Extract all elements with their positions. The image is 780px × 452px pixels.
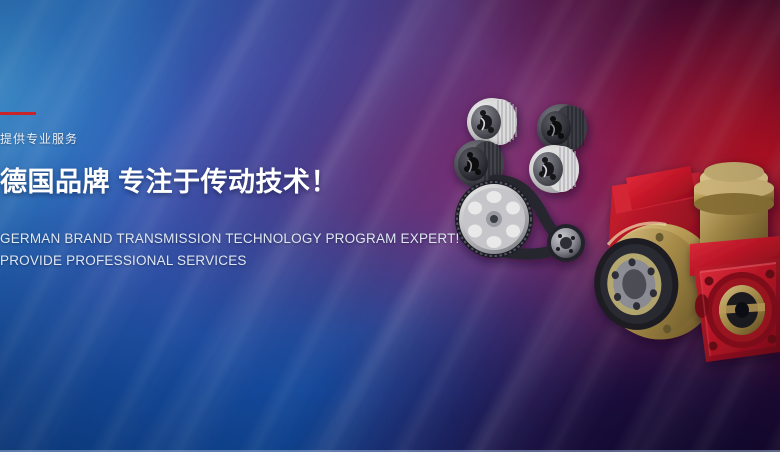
- promo-banner: 提供专业服务 德国品牌 专注于传动技术！ GERMAN BRAND TRANSM…: [0, 0, 780, 452]
- eyebrow-text: 提供专业服务: [0, 133, 420, 145]
- page-title: 德国品牌 专注于传动技术！: [0, 167, 420, 198]
- subheadline-line-2: PROVIDE PROFESSIONAL SERVICES: [0, 250, 420, 272]
- subheadline: GERMAN BRAND TRANSMISSION TECHNOLOGY PRO…: [0, 228, 420, 272]
- accent-rule: [0, 112, 36, 115]
- subheadline-line-1: GERMAN BRAND TRANSMISSION TECHNOLOGY PRO…: [0, 228, 420, 250]
- banner-copy: 提供专业服务 德国品牌 专注于传动技术！ GERMAN BRAND TRANSM…: [0, 112, 420, 272]
